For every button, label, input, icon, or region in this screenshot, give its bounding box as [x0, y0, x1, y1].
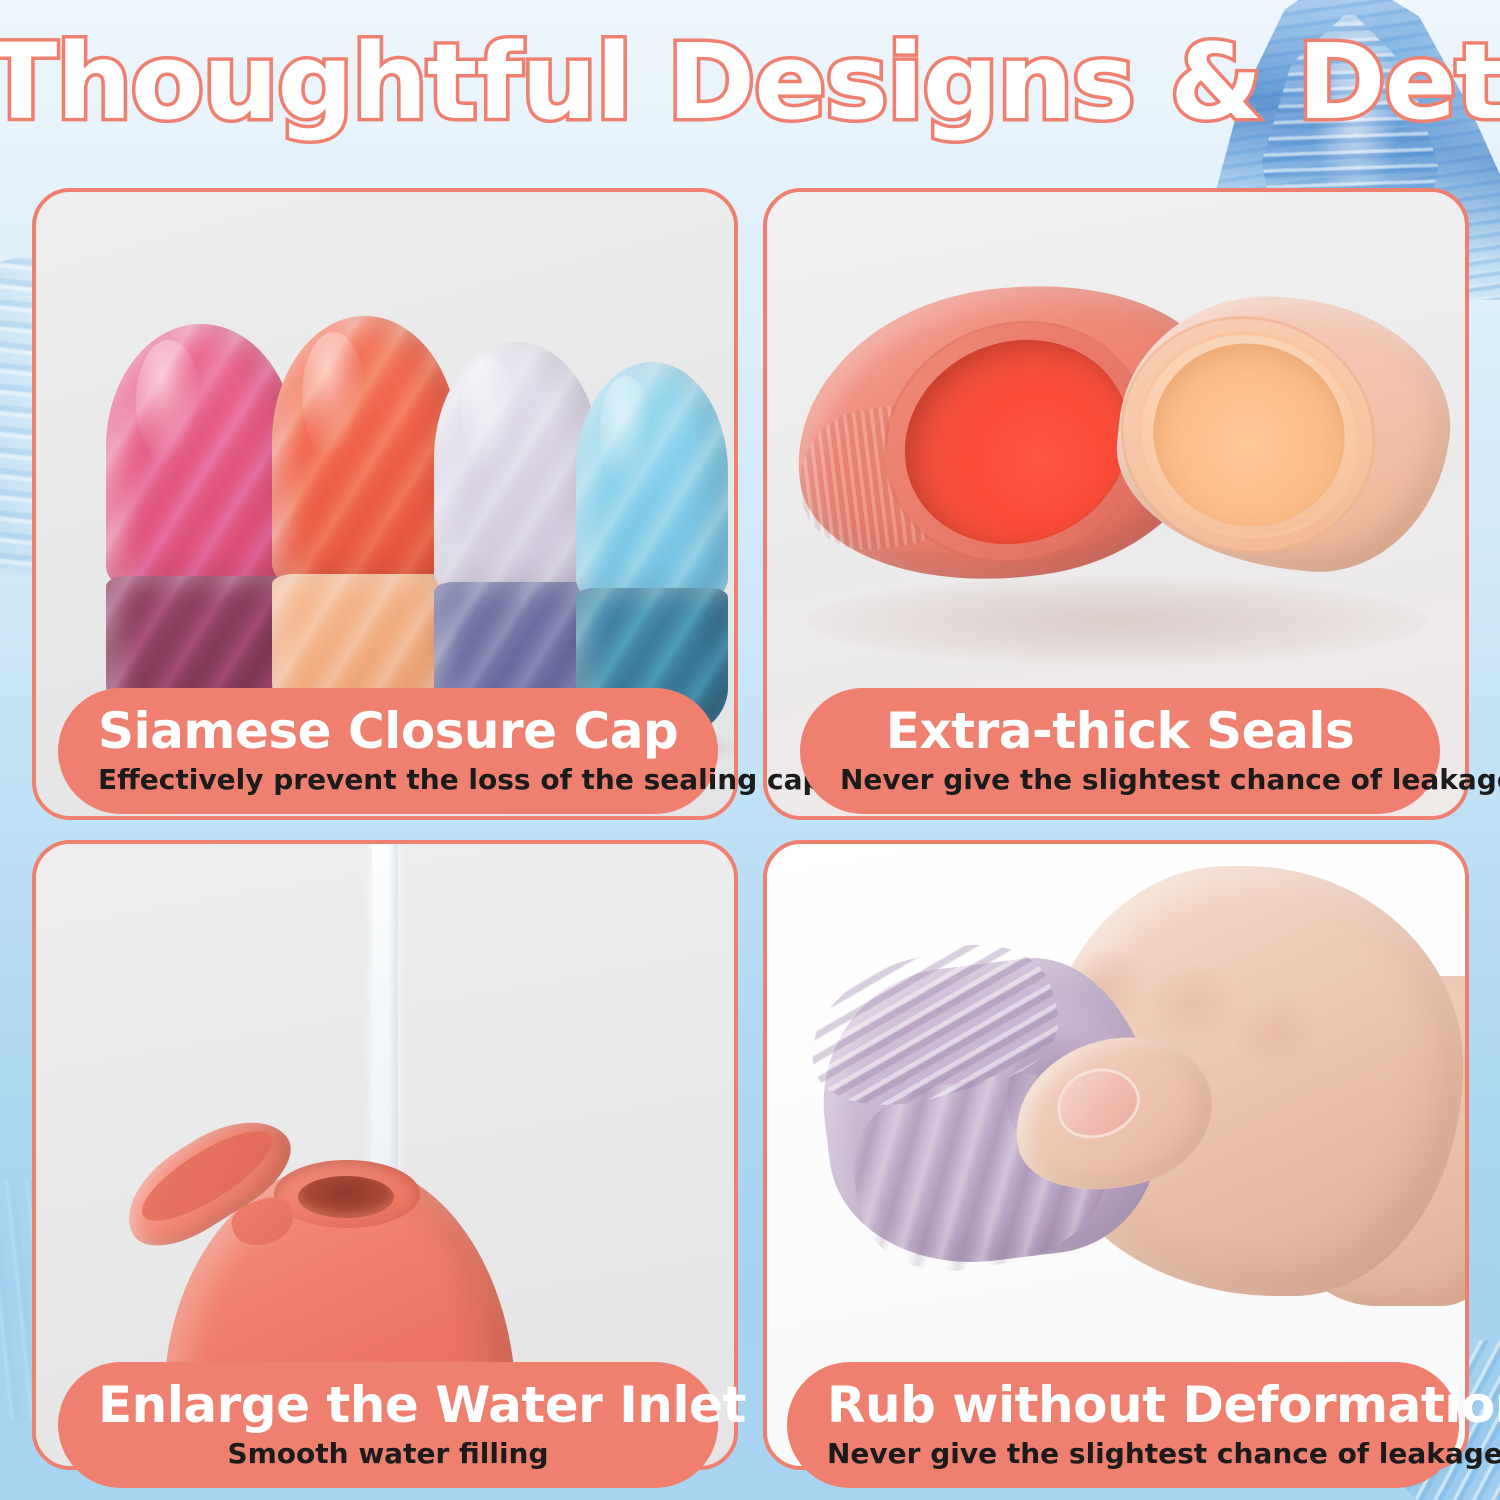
- caption-enlarge-the-water-inlet: Enlarge the Water Inlet Smooth water fil…: [58, 1362, 718, 1488]
- caption-subtitle: Smooth water filling: [98, 1436, 678, 1472]
- caption-subtitle: Effectively prevent the loss of the seal…: [98, 762, 678, 798]
- caption-title: Enlarge the Water Inlet: [98, 1376, 678, 1434]
- bottle-pink: [106, 324, 296, 744]
- caption-subtitle: Never give the slightest chance of leaka…: [827, 1436, 1419, 1472]
- infographic-page: Thoughtful Designs & Details: [0, 0, 1500, 1500]
- bottle-cap-blue: [576, 362, 728, 602]
- swirl-texture-icon: [106, 324, 296, 592]
- bottle-blue: [576, 362, 728, 744]
- caption-siamese-closure-cap: Siamese Closure Cap Effectively prevent …: [58, 688, 718, 814]
- swirl-texture-icon: [272, 316, 458, 590]
- caption-title: Siamese Closure Cap: [98, 702, 678, 760]
- water-inlet-opening: [298, 1176, 394, 1218]
- gloss-highlight: [302, 332, 365, 458]
- gloss-highlight: [600, 376, 652, 486]
- bottle-cap-pink: [106, 324, 296, 592]
- bottle-coral: [272, 316, 458, 744]
- page-title: Thoughtful Designs & Details: [0, 26, 1500, 138]
- caption-title: Rub without Deformation: [827, 1376, 1419, 1434]
- bottle-cap-coral: [272, 316, 458, 590]
- gloss-highlight: [136, 340, 201, 463]
- swirl-texture-icon: [576, 362, 728, 602]
- water-stream-icon: [372, 844, 398, 1214]
- caption-subtitle: Never give the slightest chance of leaka…: [840, 762, 1400, 798]
- caption-rub-without-deformation: Rub without Deformation Never give the s…: [787, 1362, 1459, 1488]
- caption-title: Extra-thick Seals: [840, 702, 1400, 760]
- gloss-highlight: [461, 357, 517, 474]
- product-shadow: [807, 576, 1427, 666]
- caption-extra-thick-seals: Extra-thick Seals Never give the slighte…: [800, 688, 1440, 814]
